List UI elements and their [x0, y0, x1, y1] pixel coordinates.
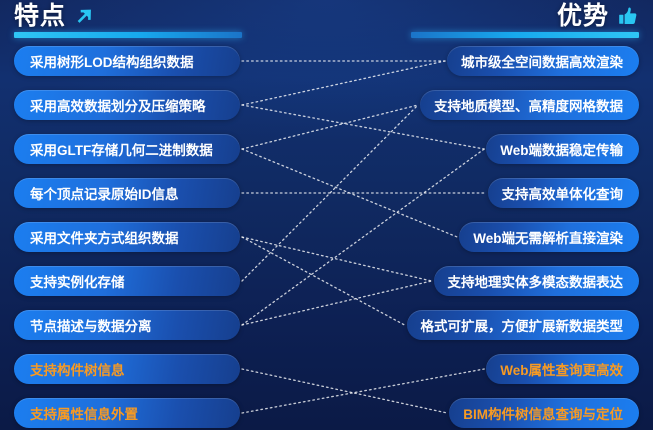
advantage-pill[interactable]: Web属性查询更高效	[486, 354, 639, 384]
feature-label: 采用树形LOD结构组织数据	[30, 51, 194, 71]
advantage-label: BIM构件树信息查询与定位	[463, 403, 623, 423]
feature-pill[interactable]: 支持构件树信息	[14, 354, 240, 384]
advantage-pill[interactable]: 城市级全空间数据高效渲染	[447, 46, 639, 76]
feature-label: 支持属性信息外置	[30, 403, 138, 423]
feature-pill[interactable]: 每个顶点记录原始ID信息	[14, 178, 240, 208]
feature-label: 支持构件树信息	[30, 359, 125, 379]
feature-pill[interactable]: 采用GLTF存储几何二进制数据	[14, 134, 240, 164]
arrow-up-right-icon	[74, 5, 96, 27]
feature-label: 节点描述与数据分离	[30, 315, 152, 335]
advantage-pill[interactable]: BIM构件树信息查询与定位	[449, 398, 639, 428]
advantage-pill[interactable]: Web端数据稳定传输	[486, 134, 639, 164]
advantage-pill[interactable]: 支持高效单体化查询	[488, 178, 640, 208]
feature-pill[interactable]: 支持属性信息外置	[14, 398, 240, 428]
feature-pill[interactable]: 节点描述与数据分离	[14, 310, 240, 340]
advantage-pill[interactable]: 格式可扩展，方便扩展新数据类型	[407, 310, 640, 340]
advantage-label: 支持地质模型、高精度网格数据	[434, 95, 623, 115]
advantage-label: Web端数据稳定传输	[500, 139, 623, 159]
left-header: 特点	[14, 2, 96, 30]
feature-label: 每个顶点记录原始ID信息	[30, 183, 179, 203]
feature-pill[interactable]: 采用树形LOD结构组织数据	[14, 46, 240, 76]
infographic-root: 特点 优势 采用树形LOD结构组织数据采用高效数据划分及压缩策略采用GLTF存储…	[0, 0, 653, 430]
right-header: 优势	[557, 2, 639, 30]
feature-label: 支持实例化存储	[30, 271, 125, 291]
feature-label: 采用GLTF存储几何二进制数据	[30, 139, 213, 159]
advantage-pill[interactable]: 支持地理实体多模态数据表达	[434, 266, 640, 296]
advantage-pill[interactable]: Web端无需解析直接渲染	[459, 222, 639, 252]
feature-pill[interactable]: 采用高效数据划分及压缩策略	[14, 90, 240, 120]
feature-pill[interactable]: 支持实例化存储	[14, 266, 240, 296]
left-header-underline	[14, 32, 242, 38]
advantage-label: Web属性查询更高效	[500, 359, 623, 379]
advantage-pill[interactable]: 支持地质模型、高精度网格数据	[420, 90, 639, 120]
feature-label: 采用高效数据划分及压缩策略	[30, 95, 206, 115]
advantage-label: 格式可扩展，方便扩展新数据类型	[421, 315, 624, 335]
advantage-label: 支持地理实体多模态数据表达	[448, 271, 624, 291]
thumbs-up-icon	[617, 5, 639, 27]
advantage-label: 城市级全空间数据高效渲染	[461, 51, 623, 71]
features-column: 采用树形LOD结构组织数据采用高效数据划分及压缩策略采用GLTF存储几何二进制数…	[14, 46, 240, 430]
feature-pill[interactable]: 采用文件夹方式组织数据	[14, 222, 240, 252]
feature-label: 采用文件夹方式组织数据	[30, 227, 179, 247]
left-header-title: 特点	[14, 2, 66, 30]
right-header-underline	[411, 32, 639, 38]
advantage-label: Web端无需解析直接渲染	[473, 227, 623, 247]
advantage-label: 支持高效单体化查询	[502, 183, 624, 203]
advantages-column: 城市级全空间数据高效渲染支持地质模型、高精度网格数据Web端数据稳定传输支持高效…	[407, 46, 640, 430]
right-header-title: 优势	[557, 2, 609, 30]
